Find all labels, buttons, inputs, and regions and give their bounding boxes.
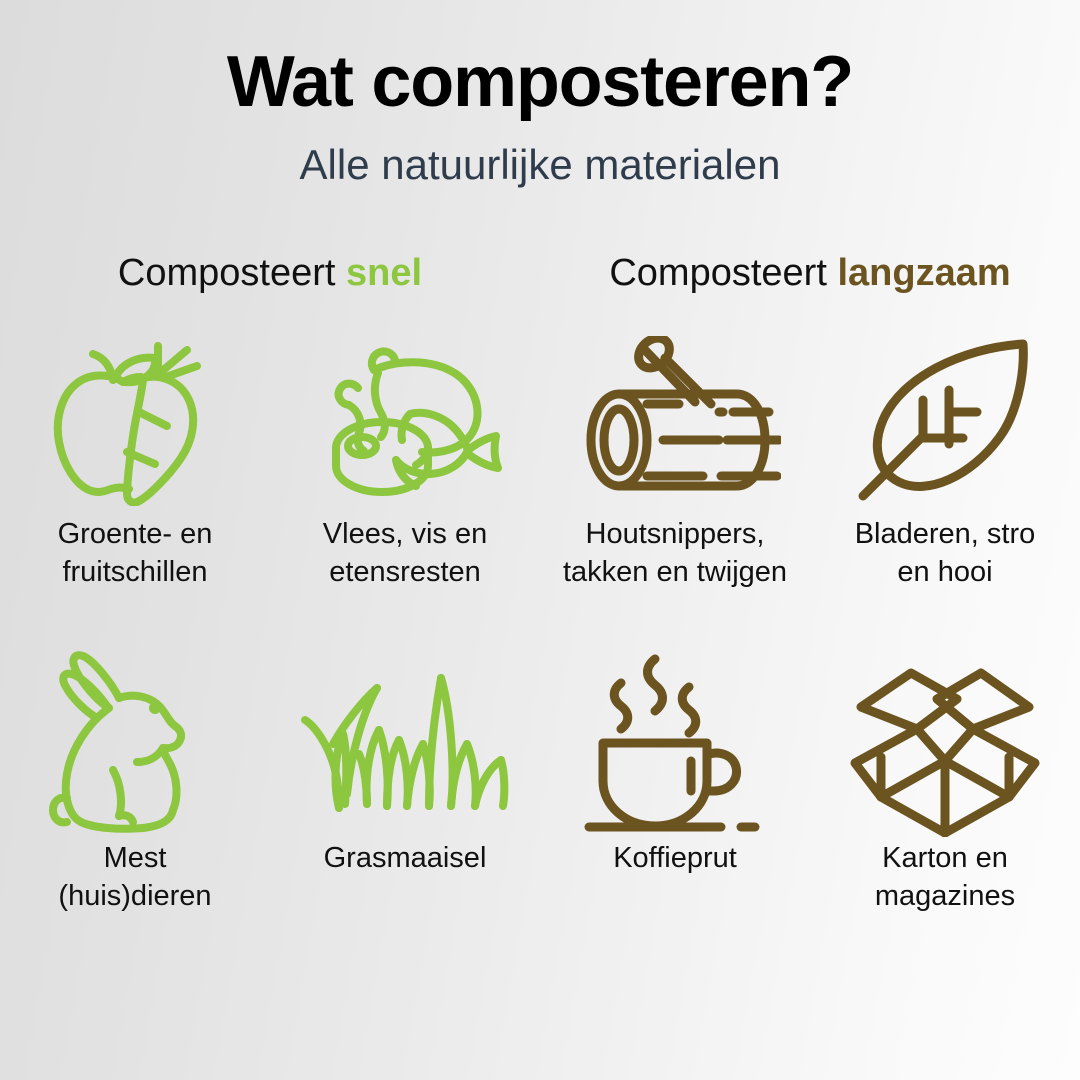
item-bladeren-stro-hooi: Bladeren, stro en hooi xyxy=(810,331,1080,631)
infographic-poster: Wat composteren? Alle natuurlijke materi… xyxy=(0,0,1080,1080)
column-heading-fast: Composteert snel xyxy=(0,252,540,295)
rabbit-icon xyxy=(45,655,225,833)
leaf-icon xyxy=(857,331,1033,509)
item-groente-fruitschillen: Groente- en fruitschillen xyxy=(0,331,270,631)
item-label: Vlees, vis en etensresten xyxy=(323,515,487,592)
item-label: Groente- en fruitschillen xyxy=(58,515,213,592)
item-label: Koffieprut xyxy=(613,839,737,877)
item-koffieprut: Koffieprut xyxy=(540,631,810,931)
column-headings: Composteert snel Composteert langzaam xyxy=(0,252,1080,295)
item-label: Mest (huis)dieren xyxy=(58,839,211,916)
coffee-cup-icon xyxy=(581,655,769,833)
column-heading-slow: Composteert langzaam xyxy=(540,252,1080,295)
log-icon xyxy=(569,331,781,509)
item-label: Grasmaaisel xyxy=(324,839,487,877)
item-vlees-vis-etensresten: Vlees, vis en etensresten xyxy=(270,331,540,631)
page-title: Wat composteren? xyxy=(0,44,1080,122)
item-label: Karton en magazines xyxy=(875,839,1015,916)
items-grid: Groente- en fruitschillen xyxy=(0,331,1080,931)
item-mest-huisdieren: Mest (huis)dieren xyxy=(0,631,270,931)
column-slow: Houtsnippers, takken en twijgen Bladeren… xyxy=(540,331,1080,931)
apple-carrot-icon xyxy=(35,331,235,509)
grass-icon xyxy=(297,655,513,833)
column-heading-fast-accent: snel xyxy=(346,252,422,294)
item-grasmaaisel: Grasmaaisel xyxy=(270,631,540,931)
meat-fish-icon xyxy=(302,331,508,509)
header: Wat composteren? Alle natuurlijke materi… xyxy=(0,0,1080,188)
column-heading-fast-prefix: Composteert xyxy=(118,252,346,294)
item-karton-magazines: Karton en magazines xyxy=(810,631,1080,931)
item-houtsnippers-takken-twijgen: Houtsnippers, takken en twijgen xyxy=(540,331,810,631)
item-label: Houtsnippers, takken en twijgen xyxy=(563,515,787,592)
cardboard-box-icon xyxy=(847,655,1043,833)
column-heading-slow-prefix: Composteert xyxy=(609,252,837,294)
item-label: Bladeren, stro en hooi xyxy=(855,515,1036,592)
page-subtitle: Alle natuurlijke materialen xyxy=(0,142,1080,188)
column-fast: Groente- en fruitschillen xyxy=(0,331,540,931)
column-heading-slow-accent: langzaam xyxy=(837,252,1010,294)
